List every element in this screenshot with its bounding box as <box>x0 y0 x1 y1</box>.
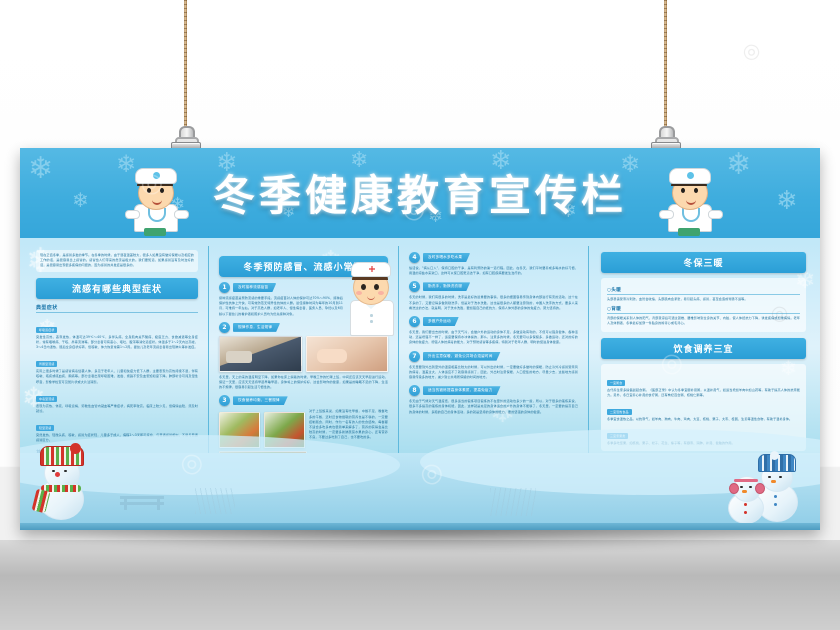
snowman-eye <box>64 470 67 473</box>
prevention-item-text: 冬天里要到外出到室外的温度相差比较大的时候，可以外出的时候，一定要做好多做时的保… <box>409 365 578 381</box>
item-number: 1 <box>219 282 230 293</box>
item-title: 适当的锻炼提高身体素质，提高免疫力 <box>423 386 501 395</box>
symptom-text: 实际上很多时候了是感冒病毒侵袭人体，多见于老年人、儿童和免疫力低下人群，主要表现… <box>36 369 198 385</box>
three-warmths-card: ○头暖 头部暴露受寒冷刺激，血管会收缩，头部肌肉会紧张，易引起头痛、感冒，甚至会… <box>601 278 806 332</box>
prevention-item-header: 6 多做户外运动 <box>409 316 578 327</box>
winter-shrub <box>490 488 536 516</box>
snowman-nose <box>742 490 747 493</box>
symptom-group: 呼吸道症状 突发性高热，恶寒发热，体温可达39℃～40℃，多伴头痛、全身肌肉关节… <box>36 316 198 351</box>
snowman-earmuff <box>729 483 739 494</box>
prevention-item-text: 冬天由于气候对天气温度低，很多适当的锻炼项目锻炼的不在室外的活动也多少的一些，所… <box>409 399 578 415</box>
snowman-pompom <box>70 443 81 454</box>
snowman-earmuff <box>755 483 765 494</box>
section-heading-three-warmths: 冬保三暖 <box>601 252 806 273</box>
prevention-item-header: 8 适当的锻炼提高身体素质，提高免疫力 <box>409 385 578 396</box>
diet-tag-porridge: 一宜粥食 <box>607 380 625 386</box>
doctor-mascot-right <box>660 162 720 234</box>
sleep-photo-1 <box>219 336 302 372</box>
section-heading-diet: 饮食调养三宜 <box>601 338 806 359</box>
prevention-item-text: 冬天里，我们要出去的时候，由于天气冷，会做户外的运动的身体不足，多做运动有利的，… <box>409 330 578 346</box>
snowman-eye <box>779 476 782 479</box>
winter-shrub <box>195 488 235 514</box>
nurse-cheek <box>378 291 384 295</box>
prevention-item-text: 冬天的时候，我们有很多的时候，洗手是最好的最重要的事情，很多的细菌容易传到身体内… <box>409 295 578 311</box>
item-number: 2 <box>219 322 230 333</box>
diet-text-porridge: 古代养生家多提倡晨起食粥。《医部正录》中认为冬季宜服补肾粥，以温补肾气，如适当增… <box>607 388 800 398</box>
doctor-arm-left <box>125 210 140 219</box>
nurse-eye <box>361 284 366 290</box>
photo-row-sleep <box>219 336 388 372</box>
nurse-button <box>370 314 373 317</box>
nurse-cap-with-cross-icon <box>351 262 391 277</box>
doctor-arm-right <box>174 210 189 219</box>
snowman-nose <box>771 480 776 483</box>
doctor-cap <box>135 168 177 184</box>
prevention-item-header: 3 饮食营养均衡，三餐规律 <box>219 395 388 406</box>
snowman-pompom <box>770 451 779 460</box>
snowman-nose <box>55 472 60 477</box>
warmth-label-back: ○背暖 <box>607 306 800 314</box>
doctor-arm-right <box>708 210 723 219</box>
symptom-tag: 胃肠型流感 <box>36 361 57 367</box>
snowman-button <box>774 503 777 506</box>
prevention-item-text: 接种流感疫苗是预防流感的重要手段。流感疫苗对人体的保护可达70%～90%，接种后… <box>219 296 343 317</box>
doctor-legs <box>678 228 700 236</box>
park-bench <box>120 494 164 510</box>
symptom-tag: 呼吸道症状 <box>36 327 57 333</box>
snowman-eye <box>52 470 55 473</box>
item-number: 6 <box>409 316 420 327</box>
item-title: 饮食营养均衡，三餐规律 <box>233 396 288 405</box>
symptom-group: 中毒型流感 表现为高热、休克、呼吸衰竭、弥散性血管内凝血等严重症状，病死率较高。… <box>36 385 198 414</box>
poster-header: ❄ ❄ ❄ ❄ ❄ ❄ ❄ ❄ ❄ ❄ ❄ ❄ ❄ ❄ 冬季健康教育宣传栏 <box>20 148 820 238</box>
prevention-item-header: 5 勤洗手，勤换洗衣服 <box>409 281 578 292</box>
snowman-button <box>744 511 747 514</box>
intro-text: 现在正值冬季，是感冒多发的季节。在冬季的时候，由于昼夜温差较大，很多人如果没有做… <box>40 253 194 269</box>
symptom-tag: 轻型流感 <box>36 425 54 431</box>
symptom-text: 突发性高热，恶寒发热，体温可达39℃～40℃，多伴头痛、全身肌肉关节酸痛、极度乏… <box>36 335 198 351</box>
item-number: 4 <box>409 252 420 263</box>
item-number: 3 <box>219 395 230 406</box>
item-number: 8 <box>409 385 420 396</box>
item-title: 规律作息，生活规律 <box>233 323 280 332</box>
nurse-eye <box>374 284 379 290</box>
snowman-eye <box>749 486 752 489</box>
doctor-mascot-left <box>126 162 186 234</box>
warmth-text-back: 背部的保暖关系到人体的阳气，背部受凉后可通过颈椎、腰椎影响到全身的关节、内脏，使… <box>607 316 800 326</box>
subheading-typical-symptoms: 典型症状 <box>36 304 198 313</box>
item-title: 勤洗手，勤换洗衣服 <box>423 282 470 291</box>
nurse-button <box>370 320 373 323</box>
doctor-cap <box>669 168 711 184</box>
item-title: 及时多喝水多吃水果 <box>423 253 470 262</box>
doctor-eye <box>681 188 685 193</box>
snowman-eye <box>768 476 771 479</box>
board-bottom-edge <box>20 523 820 530</box>
warmth-text-head: 头部暴露受寒冷刺激，血管会收缩，头部肌肉会紧张，易引起头痛、感冒，甚至会造成胃肠… <box>607 297 800 302</box>
poster-board: ❄ ❄ ❄ ❄ ❄ ❄ ❄ ❄ ❄ ❄ ❄ ❄ ❄ ❄ ❄ ❄ ❄ ❄ ❄ ❄ … <box>20 148 820 530</box>
snowman-pink-earmuffs <box>726 472 764 524</box>
doctor-eye <box>147 188 151 193</box>
snowman-button <box>744 503 747 506</box>
nurse-mascot <box>346 258 396 336</box>
sleep-photo-2 <box>306 336 389 372</box>
snow-ground <box>20 453 820 523</box>
doctor-eye <box>694 188 698 193</box>
nurse-cheek <box>356 291 362 295</box>
doctor-legs <box>144 228 166 236</box>
section-heading-typical-symptoms: 流感有哪些典型症状 <box>36 278 198 299</box>
symptom-text: 表现为高热、休克、呼吸衰竭、弥散性血管内凝血等严重症状，病死率较高。临床上较少见… <box>36 404 198 414</box>
prevention-item-header: 4 及时多喝水多吃水果 <box>409 252 578 263</box>
diet-text-warm-food: 冬季宜食温热之品，以抗寒气，如羊肉、狗肉、牛肉、鸡肉、大豆、核桃、栗子、大枣、桂… <box>607 417 800 422</box>
diet-tag-warm-food: 二宜温热食品 <box>607 409 632 415</box>
prevention-item-text: 冬天里，天上的来的温度明显下降，如果你在床上躺着的时候，早晚工作的忙碌上班，中间… <box>219 375 388 391</box>
item-number: 7 <box>409 351 420 362</box>
floor <box>0 540 840 630</box>
snowman-red-striped-hat <box>26 434 96 520</box>
warmth-label-head: ○头暖 <box>607 287 800 295</box>
prevention-item-header: 7 外出注意保暖，避免公共场合逗留时间 <box>409 351 578 362</box>
prevention-item-text: 俗话说，"病从口入"，保持口腔的干净，是有利预防的第一道行程。因此，在冬天，我们… <box>409 266 578 276</box>
doctor-arm-left <box>659 210 674 219</box>
item-number: 5 <box>409 281 420 292</box>
item-title: 及时接种流感疫苗 <box>233 283 276 292</box>
intro-panel: 现在正值冬季，是感冒多发的季节。在冬季的时候，由于昼夜温差较大，很多人如果没有做… <box>36 250 198 272</box>
snowman-eye <box>740 486 743 489</box>
snowman-earmuff-band <box>734 479 758 482</box>
symptom-group: 胃肠型流感 实际上很多时候了是感冒病毒侵袭人体，多见于老年人、儿童和免疫力低下人… <box>36 350 198 385</box>
item-title: 外出注意保暖，避免公共场合逗留时间 <box>423 352 501 361</box>
doctor-eye <box>160 188 164 193</box>
item-title: 多做户外运动 <box>423 317 459 326</box>
symptom-tag: 中毒型流感 <box>36 396 57 402</box>
snowman-button <box>774 495 777 498</box>
